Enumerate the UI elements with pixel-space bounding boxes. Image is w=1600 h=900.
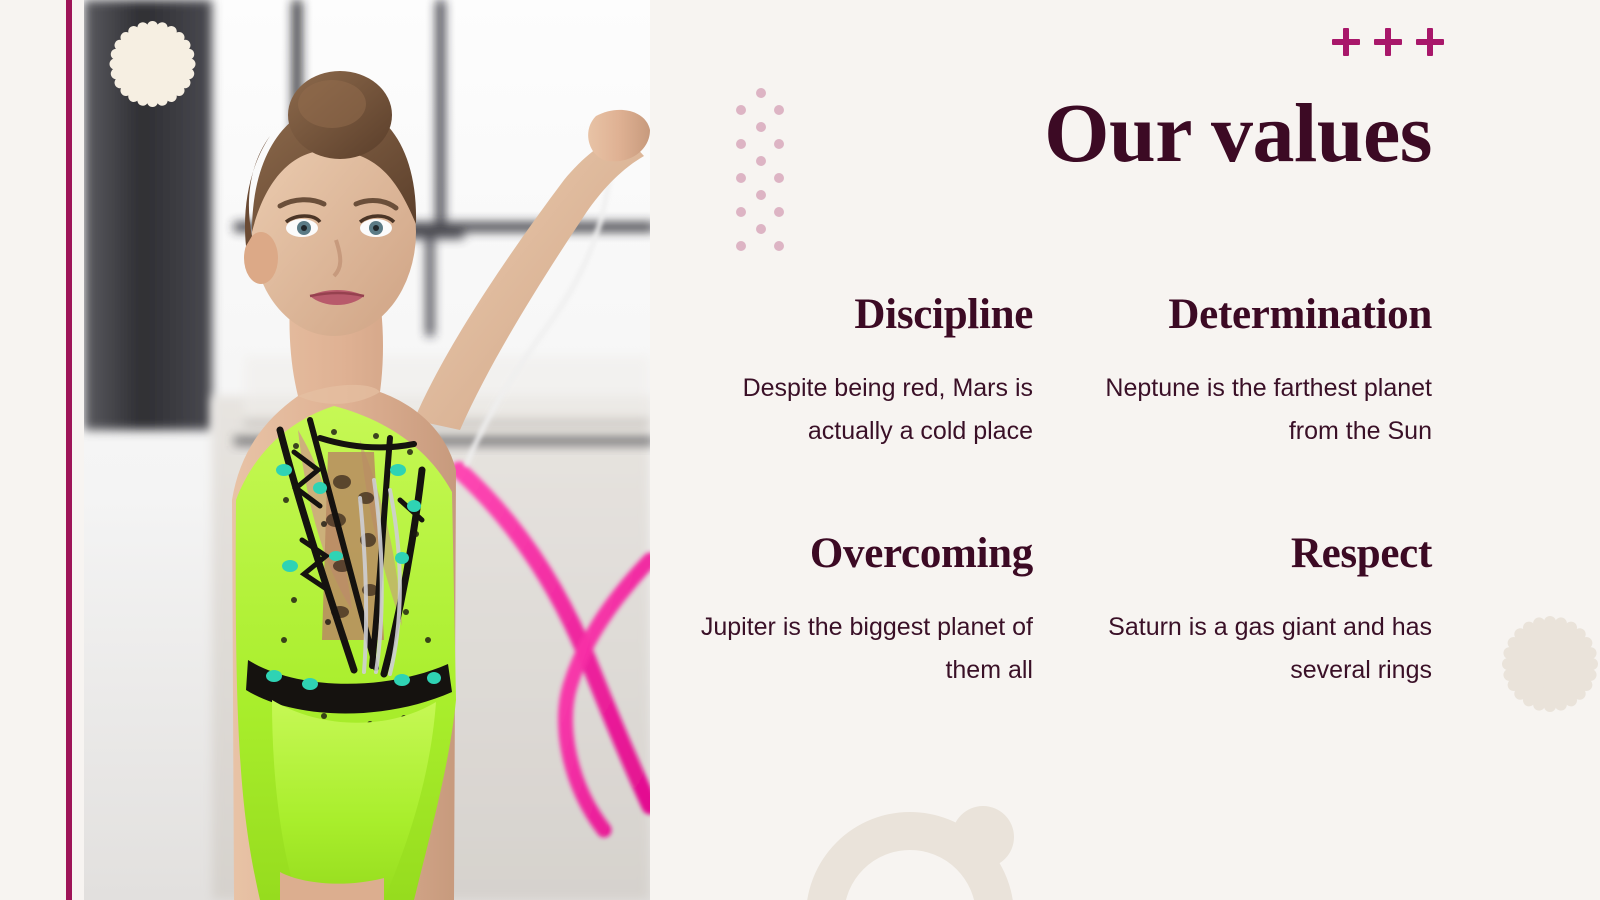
value-body: Jupiter is the biggest planet of them al…	[700, 606, 1033, 692]
value-card-discipline: Discipline Despite being red, Mars is ac…	[700, 292, 1033, 453]
sunburst-flower-icon	[104, 16, 200, 112]
slide-canvas: Our values Discipline Despite being red,…	[0, 0, 1600, 900]
circle-shape	[952, 806, 1014, 868]
value-title: Discipline	[700, 292, 1033, 337]
value-card-respect: Respect Saturn is a gas giant and has se…	[1099, 531, 1432, 692]
value-card-determination: Determination Neptune is the farthest pl…	[1099, 292, 1432, 453]
value-body: Despite being red, Mars is actually a co…	[700, 367, 1033, 453]
plus-mark-icon	[1332, 28, 1360, 56]
value-card-overcoming: Overcoming Jupiter is the biggest planet…	[700, 531, 1033, 692]
value-body: Saturn is a gas giant and has several ri…	[1099, 606, 1432, 692]
page-title: Our values	[700, 92, 1432, 176]
value-title: Determination	[1099, 292, 1432, 337]
plus-mark-icon	[1374, 28, 1402, 56]
gymnast-photo	[84, 0, 650, 900]
sunburst-flower-icon	[1498, 612, 1600, 716]
value-title: Respect	[1099, 531, 1432, 576]
value-title: Overcoming	[700, 531, 1033, 576]
left-accent-rule	[66, 0, 72, 900]
plus-mark-icon	[1416, 28, 1444, 56]
gymnast-photo-illustration	[84, 0, 650, 900]
value-body: Neptune is the farthest planet from the …	[1099, 367, 1432, 453]
values-grid: Discipline Despite being red, Mars is ac…	[700, 292, 1432, 692]
plus-mark-row	[1332, 28, 1444, 56]
